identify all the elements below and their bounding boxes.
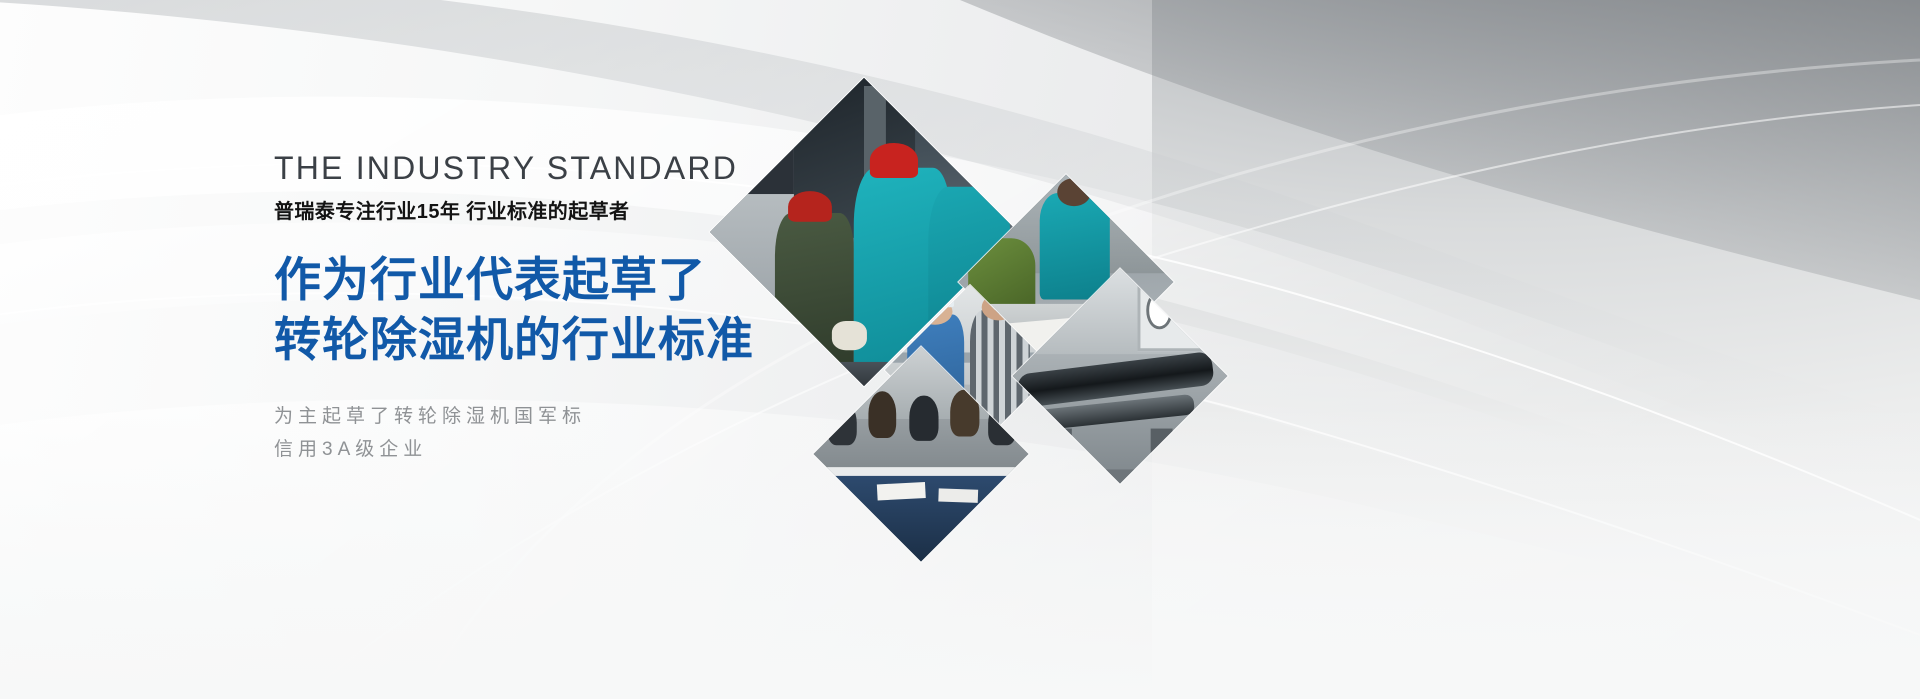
hero-banner: THE INDUSTRY STANDARD 普瑞泰专注行业15年 行业标准的起草…: [0, 0, 1920, 699]
photo-collage: [735, 78, 1295, 518]
headline-line-1: 作为行业代表起草了: [274, 253, 706, 306]
